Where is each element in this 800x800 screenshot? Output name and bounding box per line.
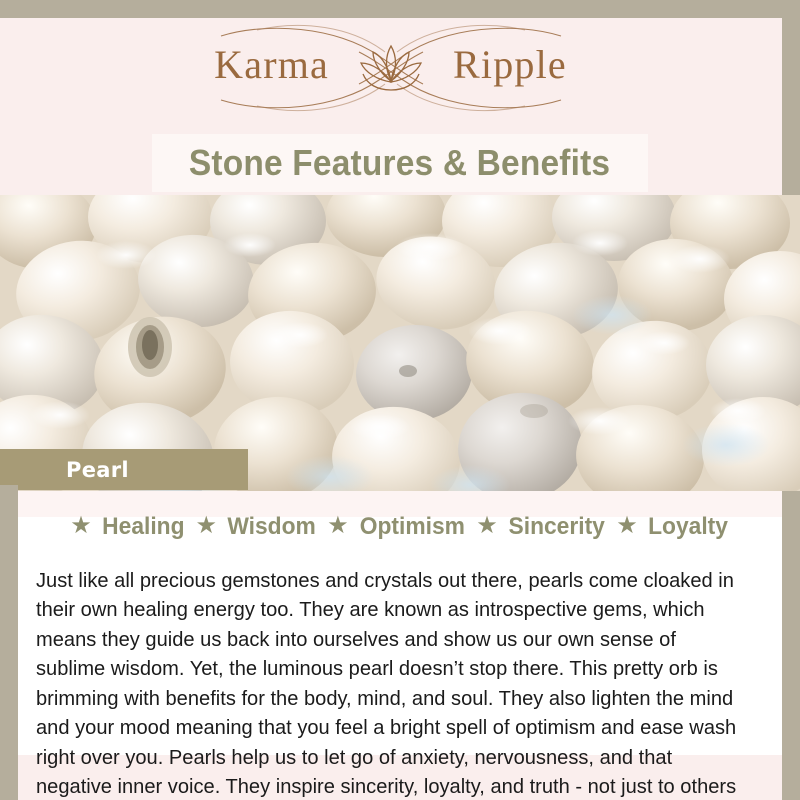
keyword-sincerity: ★ Sincerity: [476, 513, 607, 541]
pearl-photo-illustration: [0, 195, 800, 491]
stone-name: Pearl: [66, 458, 129, 482]
frame-left-band: [0, 485, 18, 800]
keyword-optimism: ★ Optimism: [327, 513, 467, 541]
keyword-loyalty: ★ Loyalty: [616, 513, 730, 541]
page-title: Stone Features & Benefits: [189, 142, 610, 184]
keyword-label: Loyalty: [648, 513, 728, 541]
keyword-label: Sincerity: [508, 513, 604, 541]
infographic-canvas: Karma Ripple Stone Features & Benefits: [0, 0, 800, 800]
lotus-icon: [361, 46, 421, 90]
star-icon: ★: [195, 514, 217, 538]
keyword-label: Wisdom: [227, 513, 315, 541]
star-icon: ★: [327, 514, 349, 538]
star-icon: ★: [70, 514, 92, 538]
keyword-wisdom: ★ Wisdom: [195, 513, 318, 541]
stone-name-chip: Pearl: [0, 449, 248, 490]
star-icon: ★: [616, 514, 638, 538]
keyword-healing: ★ Healing: [70, 513, 186, 541]
brand-name-right: Ripple: [453, 42, 567, 87]
keyword-label: Healing: [102, 513, 184, 541]
description-card: ★ Healing ★ Wisdom ★ Optimism ★ Sincerit…: [18, 491, 782, 755]
keyword-list: ★ Healing ★ Wisdom ★ Optimism ★ Sincerit…: [18, 513, 782, 541]
keyword-label: Optimism: [359, 513, 464, 541]
page-title-banner: Stone Features & Benefits: [152, 134, 648, 192]
stone-photo: [0, 195, 800, 491]
stone-description: Just like all precious gemstones and cry…: [36, 566, 747, 800]
brand-logo: Karma Ripple: [0, 22, 782, 114]
star-icon: ★: [476, 514, 498, 538]
brand-name-left: Karma: [214, 42, 329, 87]
